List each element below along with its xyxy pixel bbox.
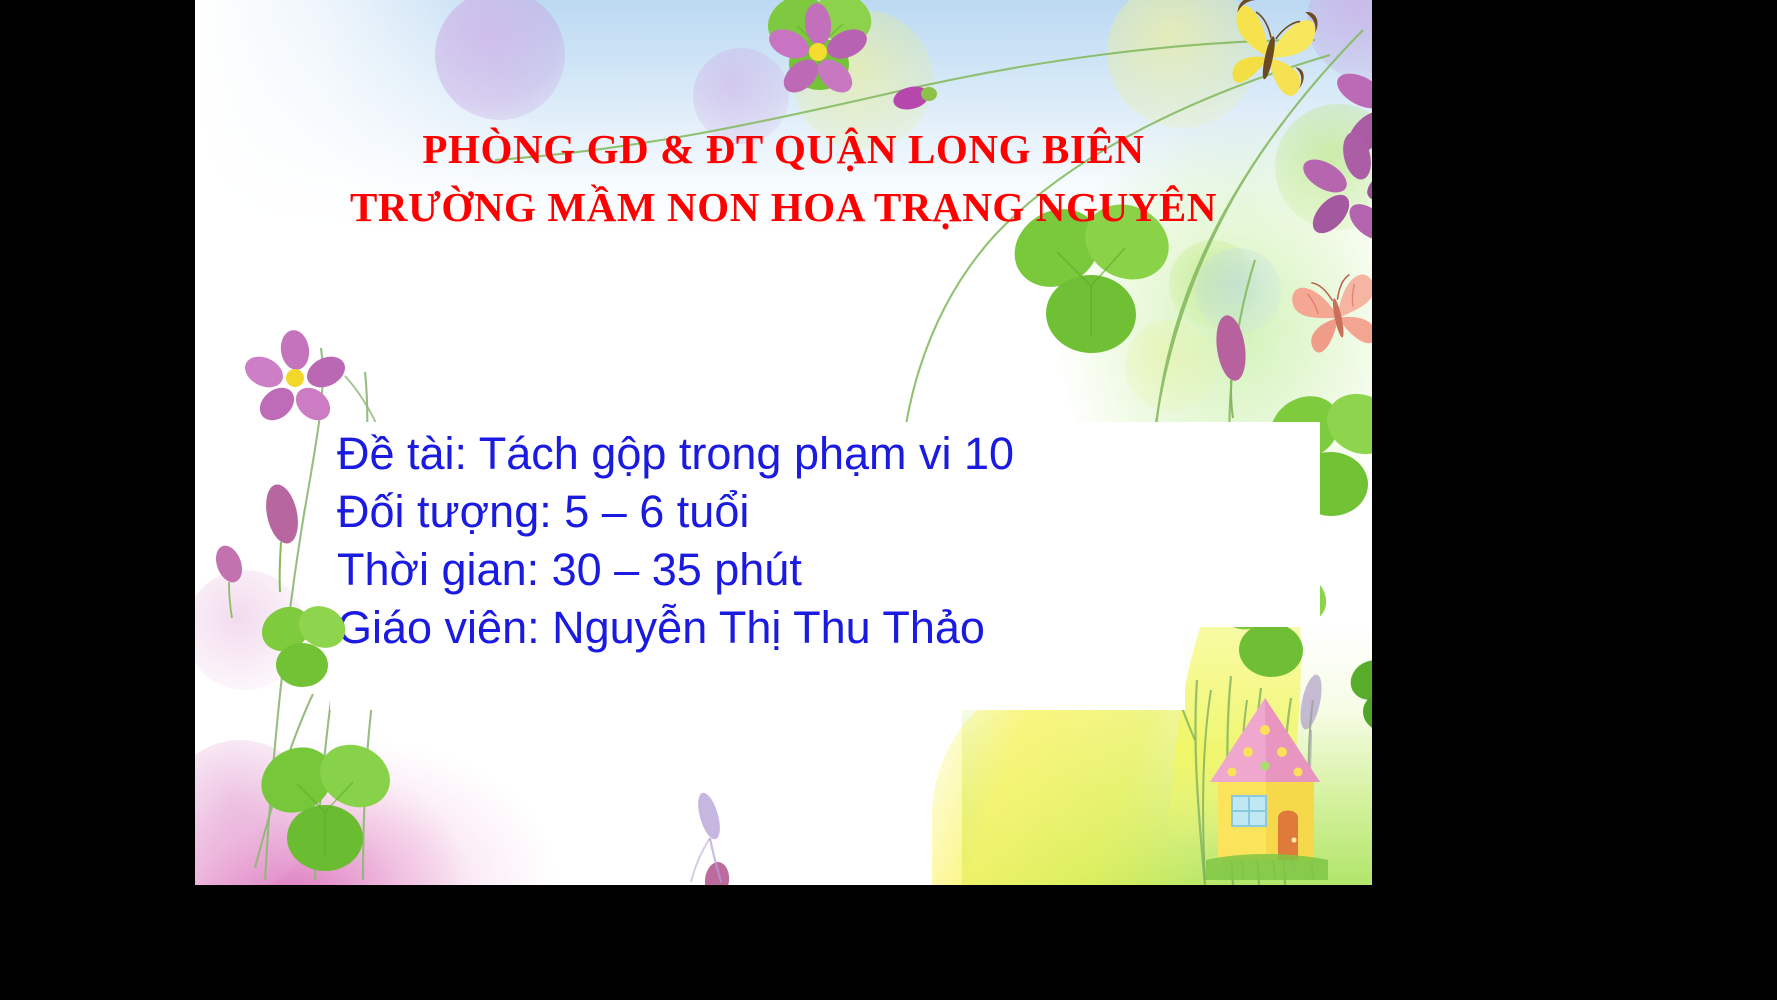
body-line-teacher: Giáo viên: Nguyễn Thị Thu Thảo bbox=[337, 599, 1014, 657]
yellow-butterfly-icon bbox=[1215, 0, 1325, 115]
letterbox-bar-left bbox=[0, 0, 195, 1000]
flower-bud bbox=[1205, 310, 1257, 420]
pink-butterfly-icon bbox=[1283, 262, 1372, 372]
body-text-block: Đề tài: Tách gộp trong phạm vi 10 Đối tư… bbox=[337, 425, 1014, 657]
fairy-house-icon bbox=[1170, 690, 1360, 885]
purple-wisp bbox=[675, 790, 755, 885]
letterbox-bar-right bbox=[1372, 0, 1777, 1000]
slide-canvas: PHÒNG GD & ĐT QUẬN LONG BIÊN TRƯỜNG MẦM … bbox=[195, 0, 1372, 885]
clover-leaf bbox=[995, 190, 1185, 370]
flower-bud bbox=[205, 540, 255, 620]
body-line-topic: Đề tài: Tách gộp trong phạm vi 10 bbox=[337, 425, 1014, 483]
purple-flower bbox=[240, 330, 350, 430]
letterbox-bar-bottom bbox=[0, 885, 1777, 1000]
purple-flower bbox=[763, 2, 873, 102]
clover-leaf bbox=[245, 730, 405, 880]
flower-bud bbox=[885, 78, 945, 120]
body-line-duration: Thời gian: 30 – 35 phút bbox=[337, 541, 1014, 599]
purple-flower bbox=[1295, 130, 1372, 250]
body-line-audience: Đối tượng: 5 – 6 tuổi bbox=[337, 483, 1014, 541]
clover-leaf bbox=[250, 595, 355, 695]
slide-stage: PHÒNG GD & ĐT QUẬN LONG BIÊN TRƯỜNG MẦM … bbox=[0, 0, 1777, 1000]
flower-bud bbox=[250, 480, 310, 595]
